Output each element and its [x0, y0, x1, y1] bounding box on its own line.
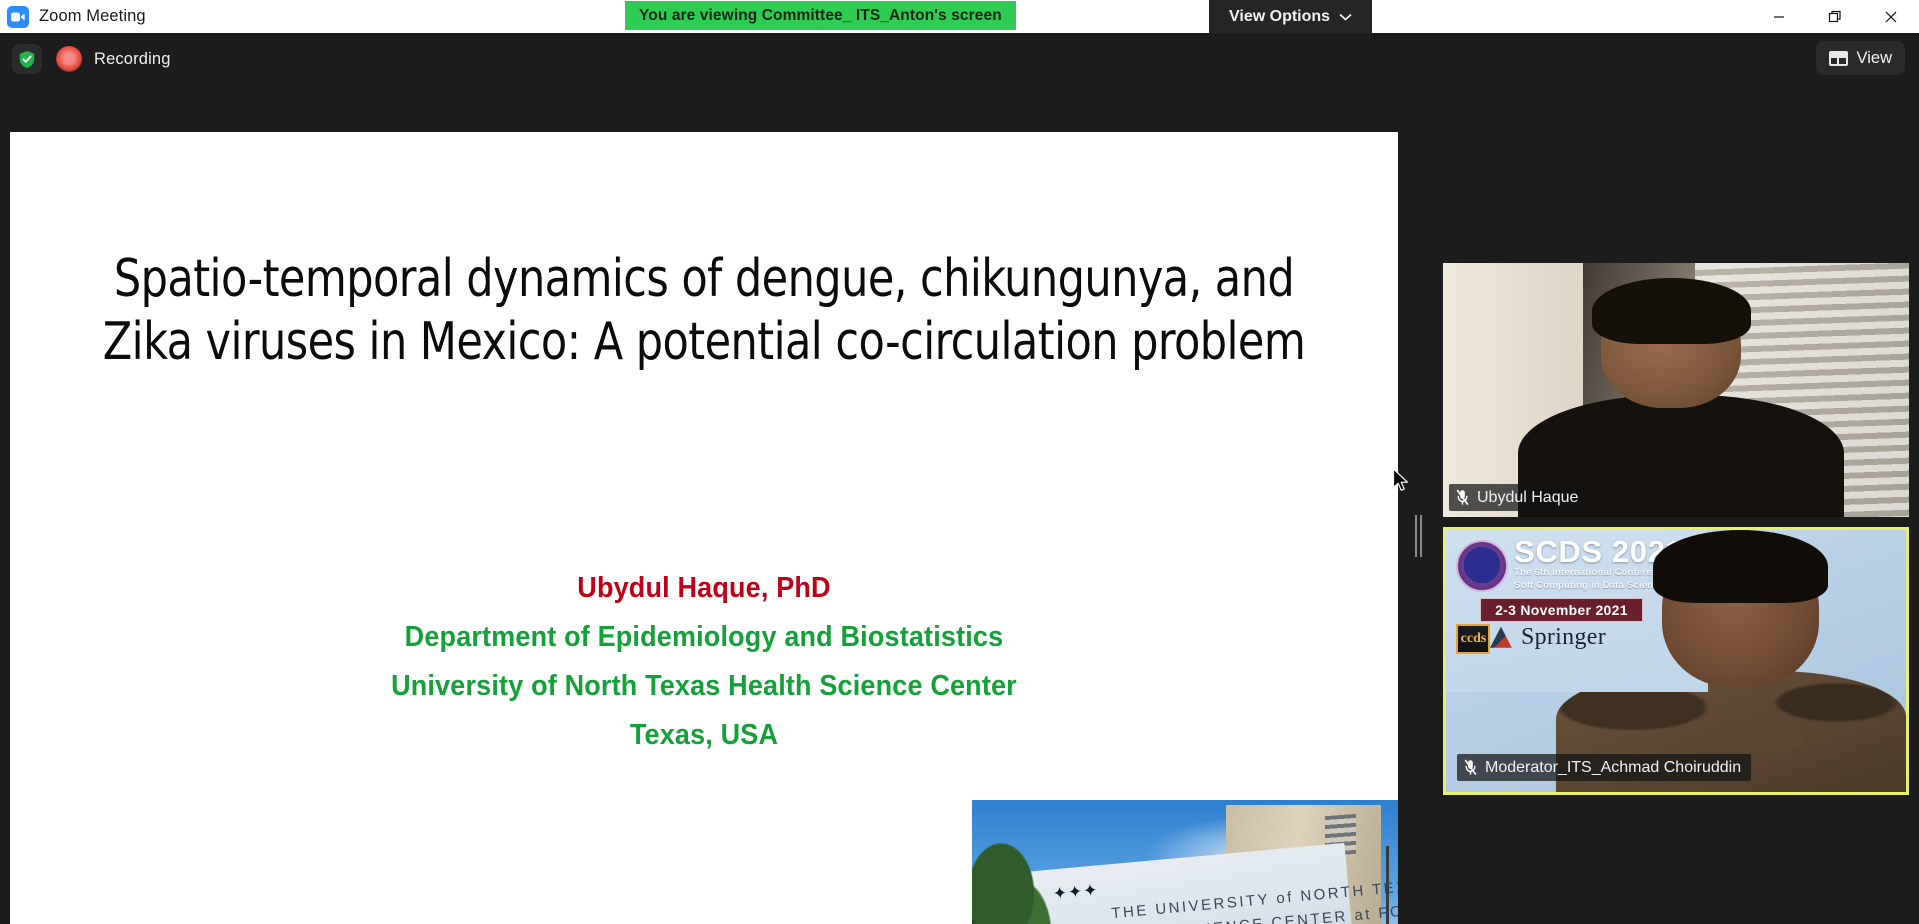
recording-dot-icon: [56, 46, 82, 72]
slide-affiliation-1: University of North Texas Health Science…: [59, 670, 1350, 703]
slide-affiliation-2: Texas, USA: [59, 719, 1350, 752]
shield-check-icon[interactable]: [12, 44, 42, 74]
view-options-button[interactable]: View Options: [1209, 0, 1372, 33]
restore-button[interactable]: [1807, 0, 1863, 33]
slide-author-name: Ubydul Haque, PhD: [59, 572, 1350, 605]
zoom-meeting-window: Zoom Meeting You are viewing Committee_ …: [0, 0, 1919, 924]
participant-name: Ubydul Haque: [1477, 489, 1578, 507]
slide-title: Spatio-temporal dynamics of dengue, chik…: [97, 248, 1311, 375]
window-controls: [1751, 0, 1919, 33]
video-person-hair: [1592, 278, 1750, 344]
scds-logo-icon: [1456, 540, 1508, 592]
participant-name: Moderator_ITS_Achmad Choiruddin: [1485, 759, 1741, 777]
sign-sparkle-icon: ✦✦✦: [1052, 883, 1099, 902]
recording-label: Recording: [94, 50, 171, 69]
mouse-pointer-icon: [1392, 468, 1410, 494]
slide-title-line-1: Spatio-temporal dynamics of dengue, chik…: [97, 248, 1311, 311]
participant-tile-moderator[interactable]: SCDS 2021 The 6th International Conferen…: [1443, 527, 1909, 795]
recording-indicator[interactable]: Recording: [56, 46, 171, 72]
springer-mark-icon: [1488, 626, 1514, 650]
participant-name-bar: Ubydul Haque: [1449, 484, 1588, 511]
screen-share-banner: You are viewing Committee_ ITS_Anton's s…: [625, 1, 1016, 30]
view-options-label: View Options: [1229, 8, 1330, 26]
mic-muted-icon: [1464, 759, 1477, 776]
participant-name-bar: Moderator_ITS_Achmad Choiruddin: [1457, 754, 1751, 781]
campus-photo: hsc ✦✦✦ THE UNIVERSITY of NORTH TEXAS HE…: [972, 800, 1398, 924]
minimize-button[interactable]: [1751, 0, 1807, 33]
participant-video-feed: [1443, 263, 1909, 517]
zoom-top-toolbar: Recording View: [0, 33, 1919, 85]
mic-muted-icon: [1456, 489, 1469, 506]
close-button[interactable]: [1863, 0, 1919, 33]
window-title: Zoom Meeting: [39, 7, 146, 26]
drag-handle-icon[interactable]: [1412, 515, 1424, 557]
zoom-camera-icon: [7, 6, 29, 28]
chevron-down-icon: [1339, 13, 1352, 21]
slide-title-line-2: Zika viruses in Mexico: A potential co-c…: [97, 311, 1311, 374]
springer-logo: Springer: [1488, 624, 1606, 651]
view-button-label: View: [1857, 49, 1892, 68]
shared-screen-slide[interactable]: Spatio-temporal dynamics of dengue, chik…: [10, 132, 1398, 924]
slide-author-block: Ubydul Haque, PhD Department of Epidemio…: [10, 572, 1398, 768]
participant-tile-ubydul-haque[interactable]: Ubydul Haque: [1443, 263, 1909, 517]
view-layout-button[interactable]: View: [1816, 41, 1905, 75]
photo-tree: [972, 836, 1058, 924]
slide-affiliation-0: Department of Epidemiology and Biostatis…: [59, 621, 1350, 654]
video-person-hair: [1653, 530, 1828, 603]
layout-grid-icon: [1829, 51, 1848, 66]
participant-video-feed: SCDS 2021 The 6th International Conferen…: [1446, 530, 1906, 792]
ccds-logo-icon: ccds: [1456, 624, 1490, 654]
scds-date: 2-3 November 2021: [1480, 598, 1643, 622]
springer-label: Springer: [1521, 624, 1606, 651]
